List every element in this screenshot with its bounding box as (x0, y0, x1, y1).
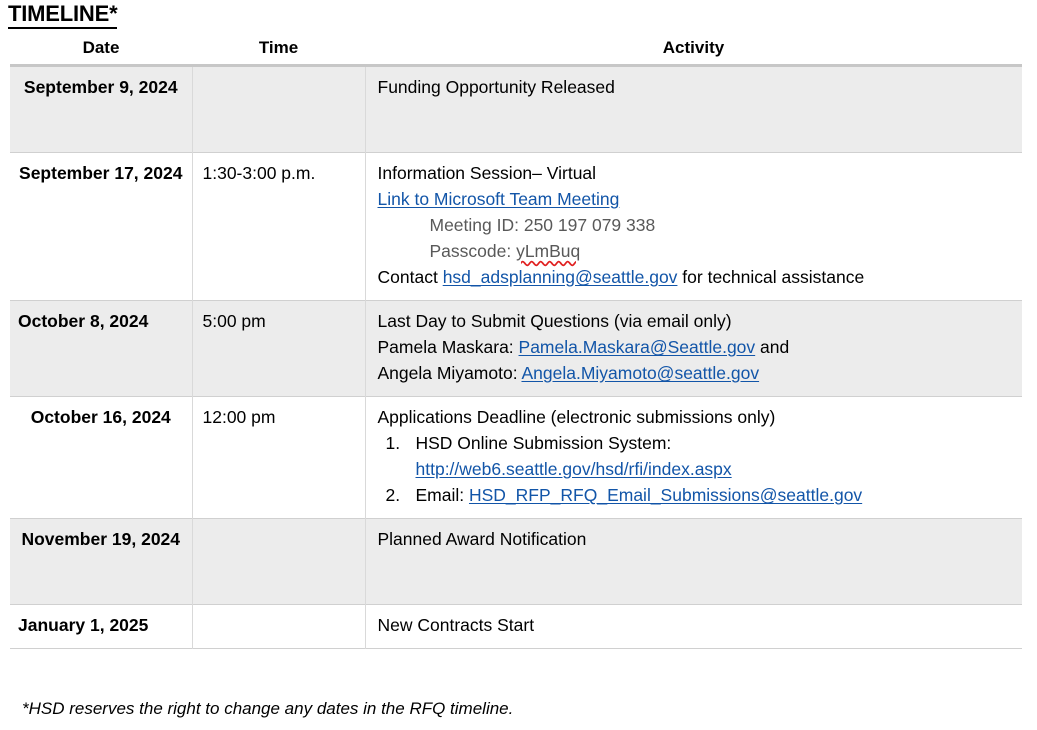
cell-time: 1:30-3:00 p.m. (192, 153, 365, 301)
page-title: TIMELINE* (8, 2, 117, 29)
table-row: January 1, 2025New Contracts Start (10, 605, 1022, 649)
contact-prefix: Pamela Maskara: (378, 337, 519, 357)
timeline-table: Date Time Activity September 9, 2024Fund… (10, 38, 1022, 649)
timeline-footnote: *HSD reserves the right to change any da… (22, 698, 513, 720)
activity-text: Last Day to Submit Questions (via email … (378, 308, 1017, 334)
list-item-text: Email: (416, 485, 469, 505)
submission-url-link[interactable]: http://web6.seattle.gov/hsd/rfi/index.as… (416, 459, 732, 479)
column-header-time: Time (192, 38, 365, 66)
column-header-date: Date (10, 38, 192, 66)
list-item-sub-line: http://web6.seattle.gov/hsd/rfi/index.as… (378, 456, 1017, 482)
table-row: September 9, 2024Funding Opportunity Rel… (10, 66, 1022, 153)
cell-time (192, 66, 365, 153)
list-marker: 1. (386, 430, 401, 456)
activity-contact-line: Angela Miyamoto: Angela.Miyamoto@seattle… (378, 360, 1017, 386)
list-item-text: HSD Online Submission System: (416, 433, 672, 453)
cell-activity: Information Session– VirtualLink to Micr… (365, 153, 1022, 301)
cell-activity: Funding Opportunity Released (365, 66, 1022, 153)
document-page: TIMELINE* Date Time Activity September 9… (0, 0, 1037, 730)
list-marker: 2. (386, 482, 401, 508)
meeting-id-text: Meeting ID: 250 197 079 338 (378, 212, 1017, 238)
cell-activity: Applications Deadline (electronic submis… (365, 397, 1022, 519)
header-row: Date Time Activity (10, 38, 1022, 66)
activity-text: New Contracts Start (378, 612, 1017, 638)
numbered-list-item: 1.HSD Online Submission System: (378, 430, 1017, 456)
email-link[interactable]: Angela.Miyamoto@seattle.gov (521, 363, 759, 383)
cell-date: October 16, 2024 (10, 397, 192, 519)
activity-contact-line: Pamela Maskara: Pamela.Maskara@Seattle.g… (378, 334, 1017, 360)
table-row: November 19, 2024Planned Award Notificat… (10, 519, 1022, 605)
activity-contact-line: Contact hsd_adsplanning@seattle.gov for … (378, 264, 1017, 290)
cell-date: October 8, 2024 (10, 301, 192, 397)
email-link[interactable]: hsd_adsplanning@seattle.gov (443, 267, 678, 287)
column-header-activity: Activity (365, 38, 1022, 66)
email-link[interactable]: HSD_RFP_RFQ_Email_Submissions@seattle.go… (469, 485, 862, 505)
activity-text: Applications Deadline (electronic submis… (378, 404, 1017, 430)
passcode-label: Passcode: (430, 241, 517, 261)
table-header: Date Time Activity (10, 38, 1022, 66)
contact-suffix: for technical assistance (677, 267, 864, 287)
cell-time: 5:00 pm (192, 301, 365, 397)
cell-time (192, 519, 365, 605)
cell-time: 12:00 pm (192, 397, 365, 519)
numbered-list-item: 2.Email: HSD_RFP_RFQ_Email_Submissions@s… (378, 482, 1017, 508)
activity-text: Planned Award Notification (378, 526, 1017, 552)
cell-date: January 1, 2025 (10, 605, 192, 649)
meeting-link[interactable]: Link to Microsoft Team Meeting (378, 189, 620, 209)
contact-prefix: Contact (378, 267, 443, 287)
passcode-value: yLmBuq (516, 241, 580, 261)
email-link[interactable]: Pamela.Maskara@Seattle.gov (519, 337, 756, 357)
activity-text: Information Session– Virtual (378, 160, 1017, 186)
cell-activity: Planned Award Notification (365, 519, 1022, 605)
meeting-passcode-text: Passcode: yLmBuq (378, 238, 1017, 264)
table-row: October 16, 202412:00 pmApplications Dea… (10, 397, 1022, 519)
cell-activity: Last Day to Submit Questions (via email … (365, 301, 1022, 397)
cell-date: September 17, 2024 (10, 153, 192, 301)
cell-date: September 9, 2024 (10, 66, 192, 153)
table-row: September 17, 20241:30-3:00 p.m.Informat… (10, 153, 1022, 301)
table-body: September 9, 2024Funding Opportunity Rel… (10, 66, 1022, 649)
activity-line: Link to Microsoft Team Meeting (378, 186, 1017, 212)
contact-suffix: and (755, 337, 789, 357)
cell-time (192, 605, 365, 649)
table-row: October 8, 20245:00 pmLast Day to Submit… (10, 301, 1022, 397)
activity-text: Funding Opportunity Released (378, 74, 1017, 100)
cell-date: November 19, 2024 (10, 519, 192, 605)
cell-activity: New Contracts Start (365, 605, 1022, 649)
contact-prefix: Angela Miyamoto: (378, 363, 522, 383)
